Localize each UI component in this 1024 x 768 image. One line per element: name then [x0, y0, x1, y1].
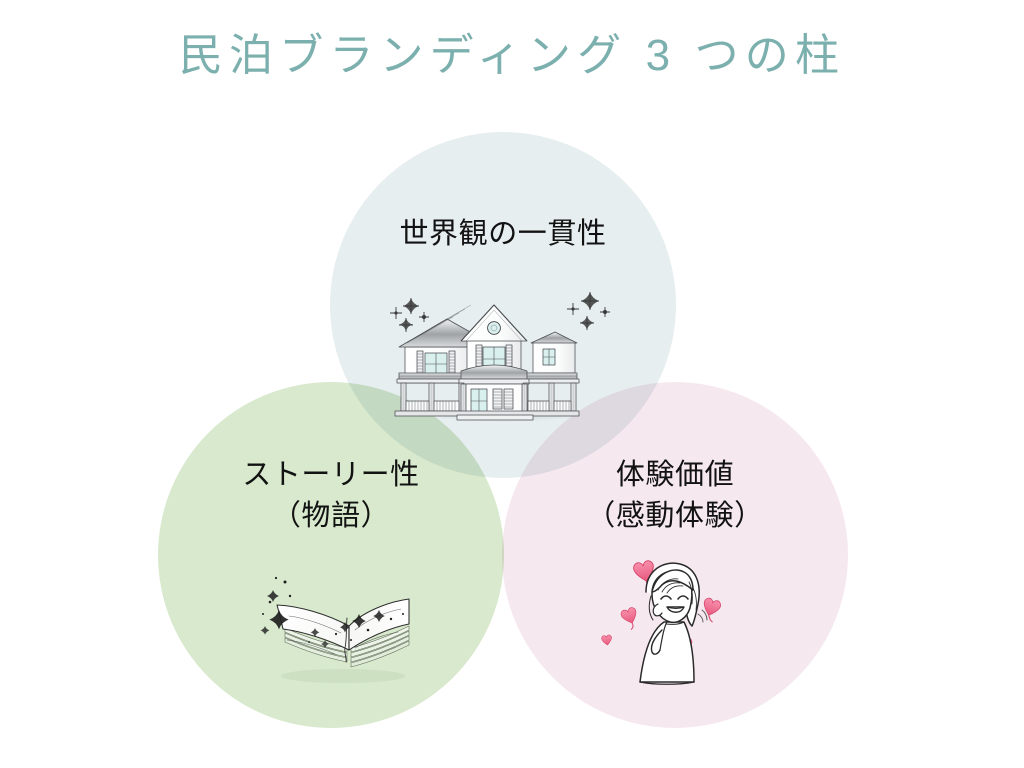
venn-label-right-main: 体験価値 — [616, 459, 734, 491]
slide-canvas: 民泊ブランディング 3 つの柱 — [0, 0, 1024, 768]
venn-label-left-sub: （物語） — [161, 496, 501, 537]
venn-label-top: 世界観の一貫性 — [333, 214, 673, 255]
venn-diagram: 世界観の一貫性 ストーリー性 （物語） 体験価値 （感動体験） — [0, 0, 1024, 768]
venn-label-top-main: 世界観の一貫性 — [399, 218, 606, 250]
venn-label-left: ストーリー性 （物語） — [161, 455, 501, 537]
person-illustration — [592, 552, 768, 710]
book-illustration — [243, 552, 439, 690]
house-illustration — [383, 281, 626, 429]
venn-label-right-sub: （感動体験） — [505, 496, 845, 537]
venn-label-left-main: ストーリー性 — [242, 459, 419, 491]
venn-label-right: 体験価値 （感動体験） — [505, 455, 845, 537]
